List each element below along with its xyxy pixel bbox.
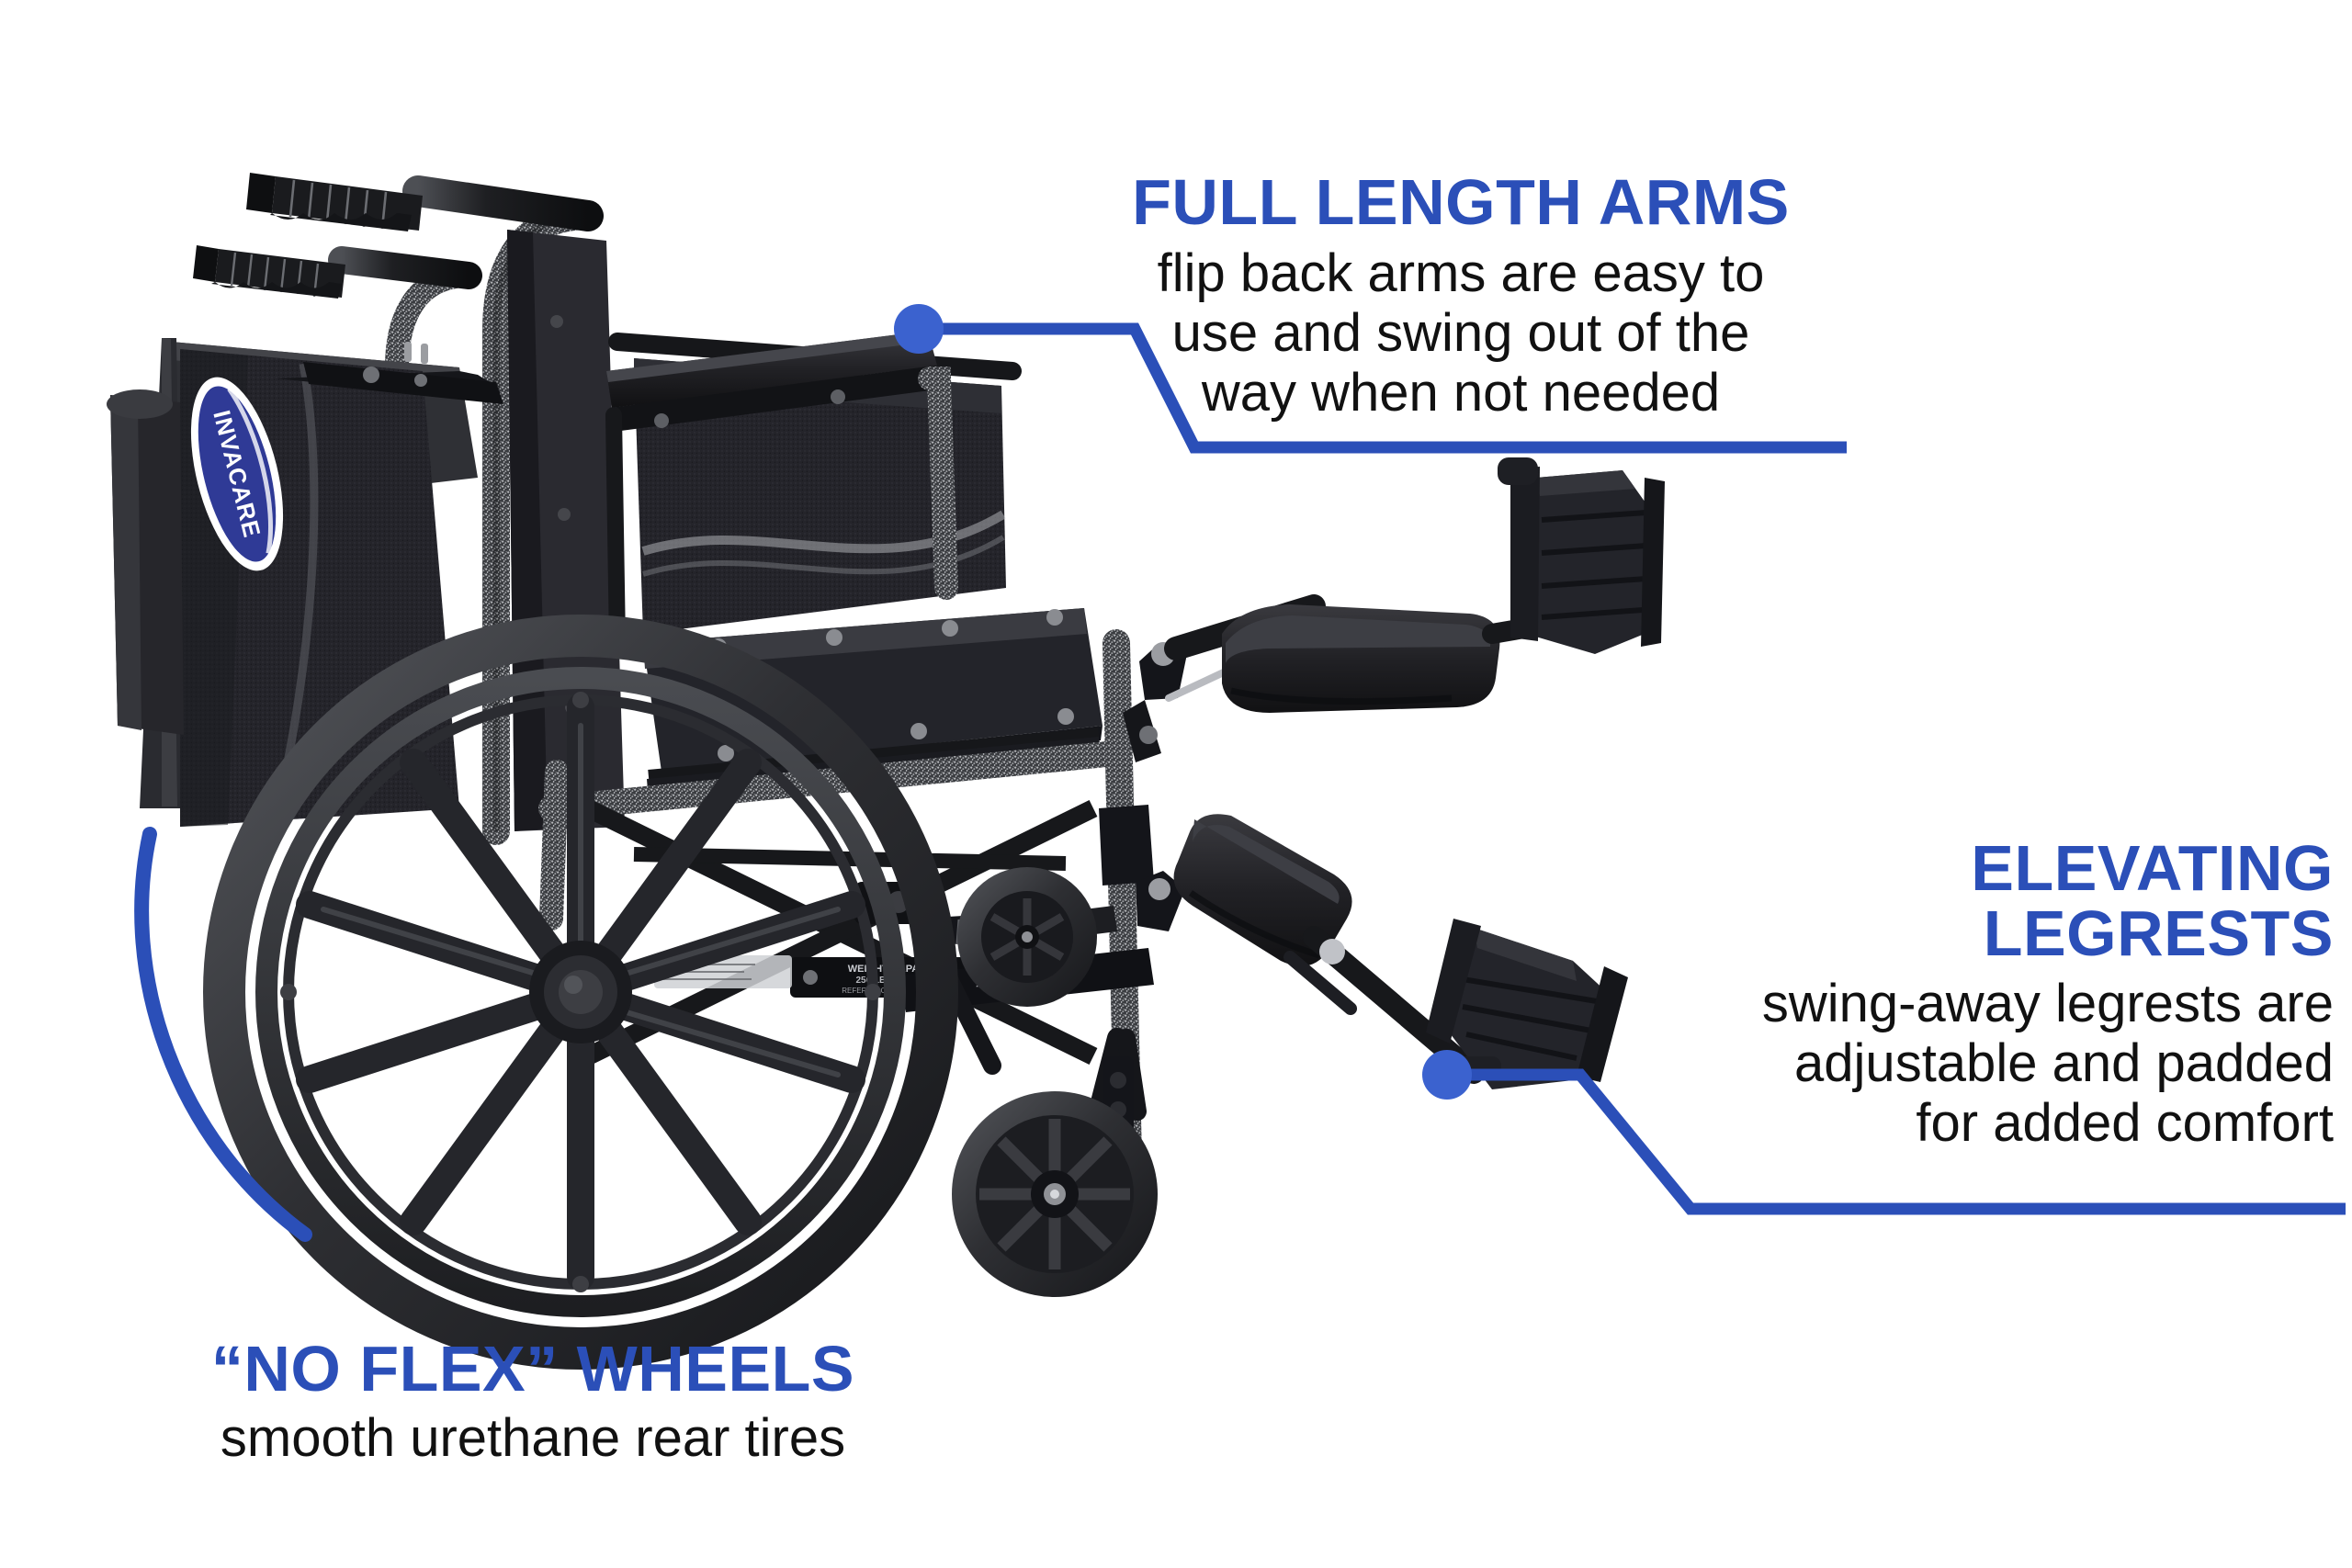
callout-legrests-title: ELEVATING LEGRESTS xyxy=(1599,836,2334,967)
footplate-lower xyxy=(1426,919,1628,1089)
callout-no-flex-wheels: “NO FLEX” WHEELS smooth urethane rear ti… xyxy=(110,1337,955,1469)
callout-arms-body: flip back arms are easy to use and swing… xyxy=(1047,244,1874,423)
callout-legrests-body-line-3: for added comfort xyxy=(1599,1094,2334,1154)
callout-legrests-title-line-2: LEGRESTS xyxy=(1599,901,2334,966)
front-caster-wheel xyxy=(952,1091,1158,1297)
legrest-lower xyxy=(1136,814,1628,1089)
callout-wheels-body-line-1: smooth urethane rear tires xyxy=(110,1409,955,1469)
callout-wheels-body: smooth urethane rear tires xyxy=(110,1409,955,1469)
rear-small-caster xyxy=(957,867,1097,1007)
legrest-upper xyxy=(1123,457,1665,762)
callout-arms-body-line-1: flip back arms are easy to xyxy=(1047,244,1874,304)
callout-legrests-body-line-1: swing-away legrests are xyxy=(1599,975,2334,1034)
callout-legrests-body: swing-away legrests are adjustable and p… xyxy=(1599,975,2334,1154)
product-feature-diagram: INVACARE xyxy=(0,0,2352,1568)
footplate-upper xyxy=(1498,457,1665,654)
callout-arms-body-line-3: way when not needed xyxy=(1047,364,1874,423)
callout-full-length-arms: FULL LENGTH ARMS flip back arms are easy… xyxy=(1047,170,1874,423)
callout-legrests-title-line-1: ELEVATING xyxy=(1599,836,2334,901)
handle-grip-lower xyxy=(193,245,345,299)
callout-legrests-body-line-2: adjustable and padded xyxy=(1599,1034,2334,1094)
callout-arms-body-line-2: use and swing out of the xyxy=(1047,304,1874,364)
callout-arms-title: FULL LENGTH ARMS xyxy=(1047,170,1874,235)
callout-elevating-legrests: ELEVATING LEGRESTS swing-away legrests a… xyxy=(1599,836,2334,1154)
callout-wheels-title: “NO FLEX” WHEELS xyxy=(110,1337,955,1402)
backrest-rear-panel xyxy=(507,230,625,831)
legrest-calf-pad-upper xyxy=(1222,604,1499,713)
handle-grip-upper xyxy=(246,173,423,231)
